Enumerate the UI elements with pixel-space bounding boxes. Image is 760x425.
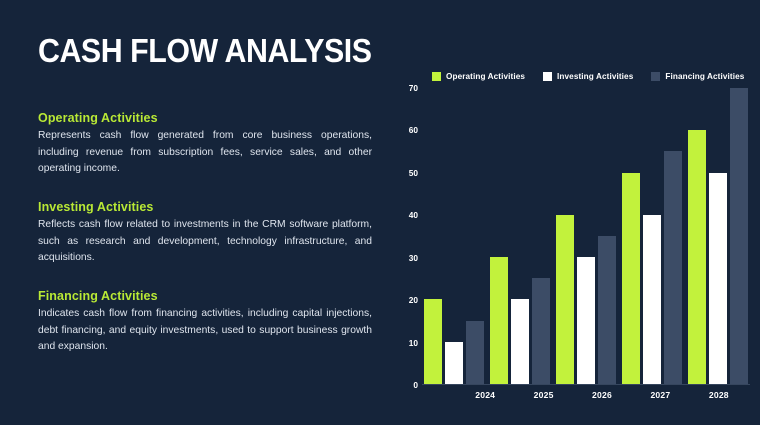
y-axis: 010203040506070 [390, 88, 418, 385]
bar-group [688, 88, 748, 384]
bar[interactable] [664, 151, 682, 384]
bar-groups [422, 88, 750, 384]
legend-label: Investing Activities [557, 72, 633, 81]
section-investing-activities: Investing Activities Reflects cash flow … [38, 200, 372, 267]
bar-group [490, 88, 550, 384]
bar[interactable] [556, 215, 574, 384]
bar-group [556, 88, 616, 384]
page-title: CASH FLOW ANALYSIS [38, 34, 345, 67]
bar[interactable] [424, 299, 442, 384]
bar[interactable] [445, 342, 463, 384]
x-axis-label: 2028 [690, 390, 748, 400]
section-body: Reflects cash flow related to investment… [38, 217, 372, 267]
bar[interactable] [709, 173, 727, 384]
bar[interactable] [490, 257, 508, 384]
bar[interactable] [598, 236, 616, 384]
section-operating-activities: Operating Activities Represents cash flo… [38, 111, 372, 178]
content-panel: CASH FLOW ANALYSIS Operating Activities … [0, 0, 390, 425]
bar[interactable] [730, 88, 748, 384]
slide-root: CASH FLOW ANALYSIS Operating Activities … [0, 0, 760, 425]
x-axis-label: 2026 [573, 390, 631, 400]
x-axis-label: 2025 [514, 390, 572, 400]
legend-item[interactable]: Financing Activities [651, 72, 744, 81]
section-body: Represents cash flow generated from core… [38, 128, 372, 178]
chart-legend: Operating ActivitiesInvesting Activities… [432, 72, 744, 81]
bar[interactable] [511, 299, 529, 384]
section-heading: Investing Activities [38, 200, 372, 214]
bar[interactable] [577, 257, 595, 384]
bar[interactable] [622, 173, 640, 384]
section-heading: Financing Activities [38, 289, 372, 303]
bar[interactable] [466, 321, 484, 384]
y-axis-tick: 20 [390, 295, 418, 305]
bar-group [622, 88, 682, 384]
y-axis-tick: 40 [390, 210, 418, 220]
x-axis: 20242025202620272028 [454, 384, 750, 400]
legend-item[interactable]: Operating Activities [432, 72, 525, 81]
plot-area: 20242025202620272028 [422, 88, 750, 385]
legend-swatch-icon [543, 72, 552, 81]
legend-swatch-icon [432, 72, 441, 81]
y-axis-tick: 70 [390, 83, 418, 93]
x-axis-label: 2027 [631, 390, 689, 400]
bar[interactable] [688, 130, 706, 384]
legend-item[interactable]: Investing Activities [543, 72, 633, 81]
y-axis-tick: 50 [390, 168, 418, 178]
legend-label: Operating Activities [446, 72, 525, 81]
section-heading: Operating Activities [38, 111, 372, 125]
bar-group [424, 88, 484, 384]
y-axis-tick: 30 [390, 253, 418, 263]
bar[interactable] [643, 215, 661, 384]
section-financing-activities: Financing Activities Indicates cash flow… [38, 289, 372, 356]
section-body: Indicates cash flow from financing activ… [38, 306, 372, 356]
y-axis-tick: 60 [390, 125, 418, 135]
chart-plot-wrapper: 010203040506070 20242025202620272028 [390, 88, 750, 385]
legend-label: Financing Activities [665, 72, 744, 81]
chart-panel: Operating ActivitiesInvesting Activities… [390, 0, 760, 425]
x-axis-label: 2024 [456, 390, 514, 400]
y-axis-tick: 0 [390, 380, 418, 390]
legend-swatch-icon [651, 72, 660, 81]
bar[interactable] [532, 278, 550, 384]
y-axis-tick: 10 [390, 338, 418, 348]
